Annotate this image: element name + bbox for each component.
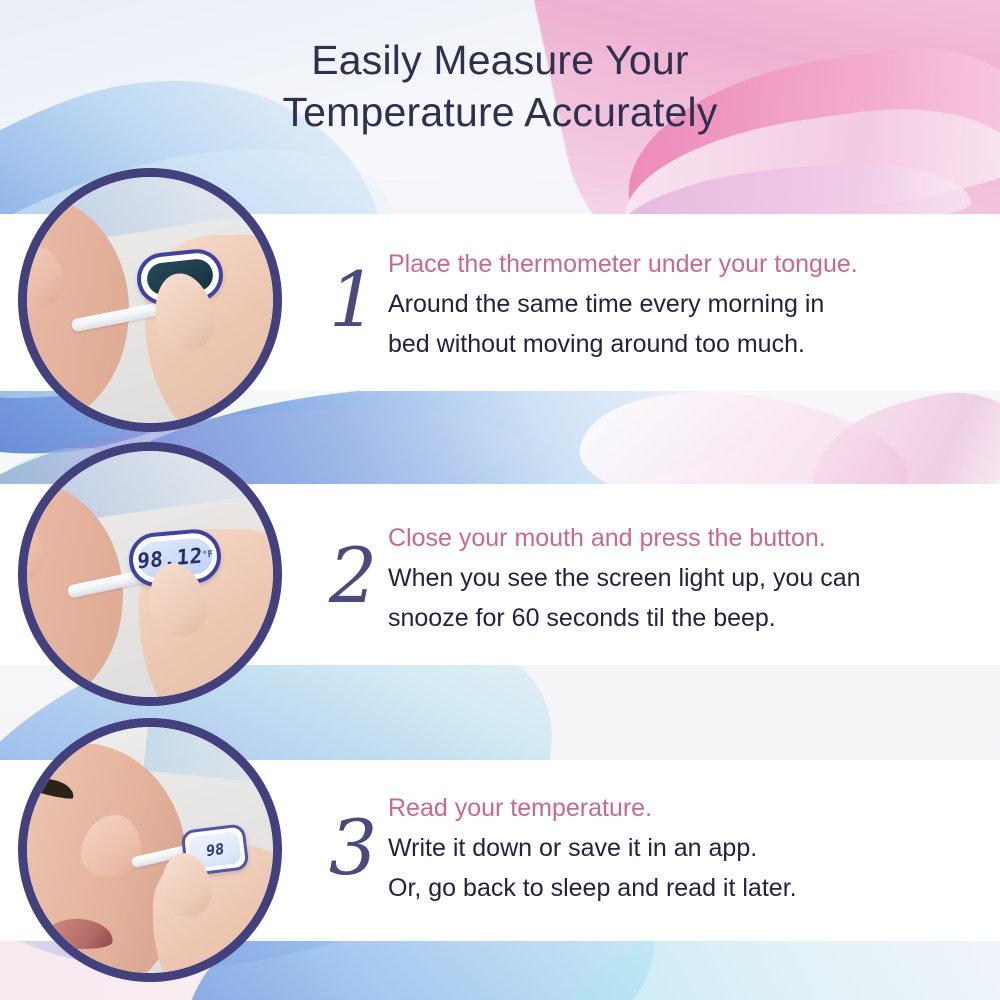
photo-3-backdrop-wedge [143, 727, 273, 791]
step-text-block-1: Place the thermometer under your tongue.… [388, 244, 988, 364]
step-heading-2: Close your mouth and press the button. [388, 518, 988, 558]
step-number-1: 1 [318, 262, 388, 338]
photo-3-lcd-reading: 98 [206, 841, 224, 858]
infographic-poster: Easily Measure Your Temperature Accurate… [0, 0, 1000, 1000]
photo-2-lips [27, 618, 32, 659]
step-photo-1 [18, 168, 282, 432]
step-text-block-3: Read your temperature. Write it down or … [388, 788, 988, 908]
step-body-2-line-2: snooze for 60 seconds til the beep. [388, 598, 988, 638]
title-line-2: Temperature Accurately [0, 86, 1000, 138]
photo-3-lips [46, 917, 114, 952]
step-photo-2-content: 98.12°F [27, 451, 273, 697]
step-photo-3-content: 98 [27, 727, 273, 973]
photo-3-nose [81, 815, 141, 877]
photo-2-lcd-unit: °F [202, 550, 214, 561]
step-body-3-line-1: Write it down or save it in an app. [388, 828, 988, 868]
step-number-2: 2 [318, 538, 388, 614]
step-body-3-line-2: Or, go back to sleep and read it later. [388, 868, 988, 908]
page-title: Easily Measure Your Temperature Accurate… [0, 34, 1000, 138]
photo-1-nose [27, 247, 63, 309]
step-text-block-2: Close your mouth and press the button. W… [388, 518, 988, 638]
photo-2-nose [27, 525, 43, 583]
title-line-1: Easily Measure Your [0, 34, 1000, 86]
step-body-1-line-2: bed without moving around too much. [388, 324, 988, 364]
step-number-3: 3 [318, 810, 388, 886]
step-body-1-line-1: Around the same time every morning in [388, 284, 988, 324]
step-photo-1-content [27, 177, 273, 423]
step-body-2-line-1: When you see the screen light up, you ca… [388, 558, 988, 598]
photo-3-eyelashes [27, 773, 76, 801]
step-photo-3: 98 [18, 718, 282, 982]
step-heading-1: Place the thermometer under your tongue. [388, 244, 988, 284]
step-photo-2: 98.12°F [18, 442, 282, 706]
step-heading-3: Read your temperature. [388, 788, 988, 828]
photo-1-lips [27, 349, 49, 391]
